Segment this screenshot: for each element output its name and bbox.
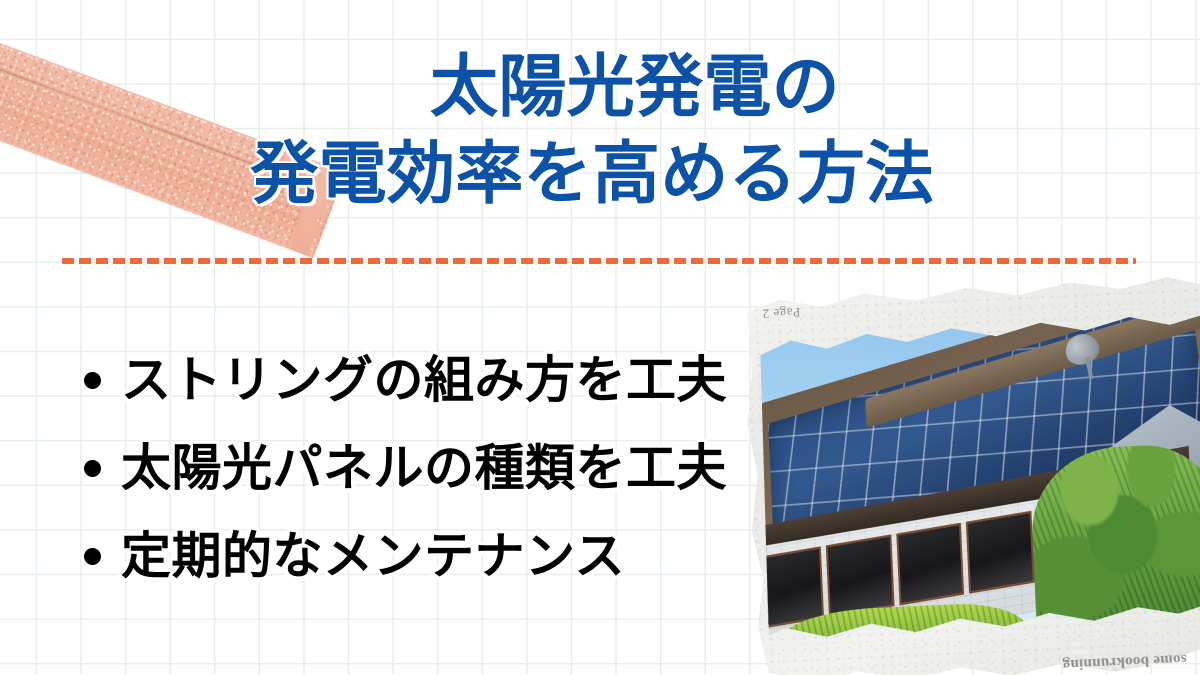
slide-canvas: Page 2 some bookrunning 太陽光発電の 発電効率を高める方…: [0, 0, 1200, 675]
photo-window: [896, 523, 964, 606]
solar-panel-house-photo: [755, 306, 1200, 652]
dashed-divider: [62, 258, 1136, 264]
photo-frame: Page 2 some bookrunning: [737, 272, 1200, 675]
newsprint-top-text: Page 2: [762, 304, 801, 322]
photo-window: [826, 535, 894, 618]
photo-window: [966, 511, 1034, 594]
